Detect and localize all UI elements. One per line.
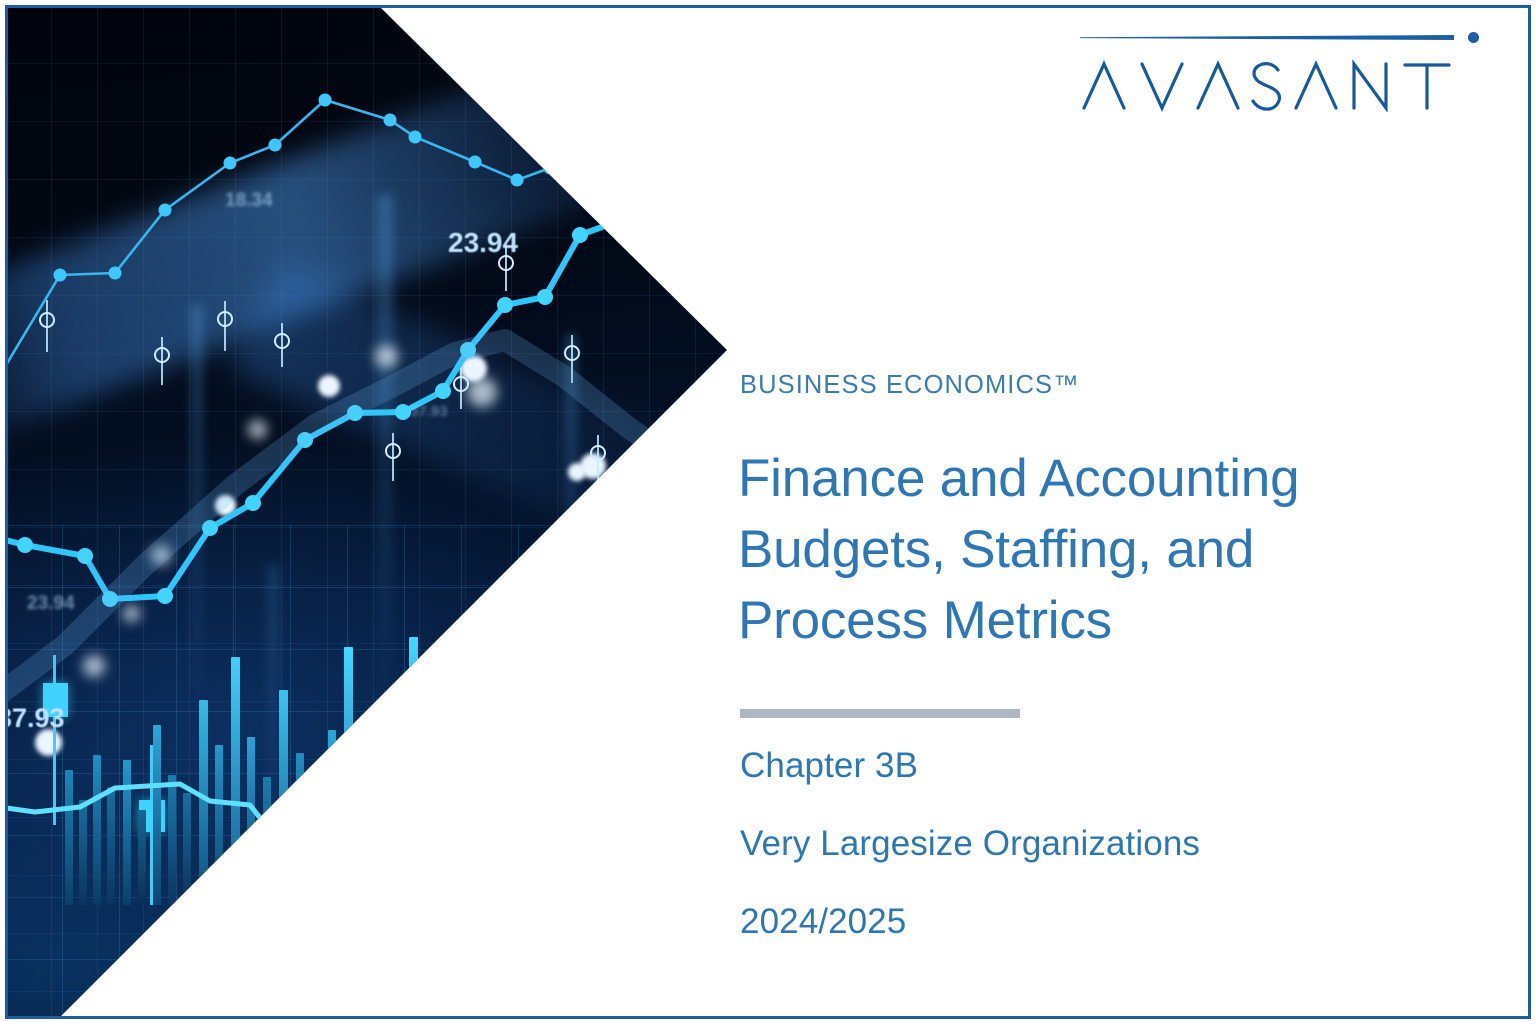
chart-value-label: 37.93 bbox=[410, 403, 448, 420]
financial-chart-artwork: 23.94 18.34 23.94 37.93 37.93 bbox=[5, 5, 745, 1019]
title-divider bbox=[740, 709, 1020, 718]
volume-bar bbox=[361, 715, 369, 905]
logo-tapered-line bbox=[1080, 35, 1454, 40]
chart-line-paths bbox=[5, 5, 745, 1019]
chapter-label: Chapter 3B bbox=[740, 748, 1480, 783]
volume-bar bbox=[409, 637, 418, 905]
year-label: 2024/2025 bbox=[740, 904, 1480, 939]
subtitle-block: Chapter 3B Very Largesize Organizations … bbox=[740, 748, 1480, 939]
segment-label: Very Largesize Organizations bbox=[740, 826, 1480, 861]
volume-bar bbox=[377, 767, 385, 905]
title-line-2: Budgets, Staffing, and bbox=[738, 514, 1498, 585]
title-line-1: Finance and Accounting bbox=[738, 443, 1498, 514]
chart-value-label: 23.94 bbox=[448, 227, 518, 259]
presentation-title-slide: 23.94 18.34 23.94 37.93 37.93 bbox=[0, 0, 1536, 1024]
logo-wordmark bbox=[1080, 56, 1490, 112]
logo-dot-icon bbox=[1468, 32, 1479, 43]
logo-rule bbox=[1080, 32, 1490, 40]
line-series-lower bbox=[5, 784, 525, 895]
eyebrow-label: BUSINESS ECONOMICS™ bbox=[740, 371, 1080, 400]
page-title: Finance and Accounting Budgets, Staffing… bbox=[738, 443, 1498, 656]
volume-bar bbox=[328, 730, 336, 905]
line-series-main-markers bbox=[17, 227, 588, 607]
chart-value-label: 23.94 bbox=[27, 593, 75, 615]
line-series-ghost bbox=[5, 340, 695, 705]
chart-value-label: 18.34 bbox=[225, 190, 273, 212]
chart-value-label: 37.93 bbox=[5, 703, 65, 734]
avasant-letterforms-icon bbox=[1080, 56, 1480, 112]
slide-content: BUSINESS ECONOMICS™ Finance and Accounti… bbox=[738, 0, 1508, 1024]
volume-bar bbox=[393, 700, 401, 905]
line-series-main bbox=[5, 223, 613, 599]
volume-bar bbox=[312, 785, 320, 905]
title-line-3: Process Metrics bbox=[738, 585, 1498, 656]
avasant-logo[interactable] bbox=[1080, 32, 1490, 112]
